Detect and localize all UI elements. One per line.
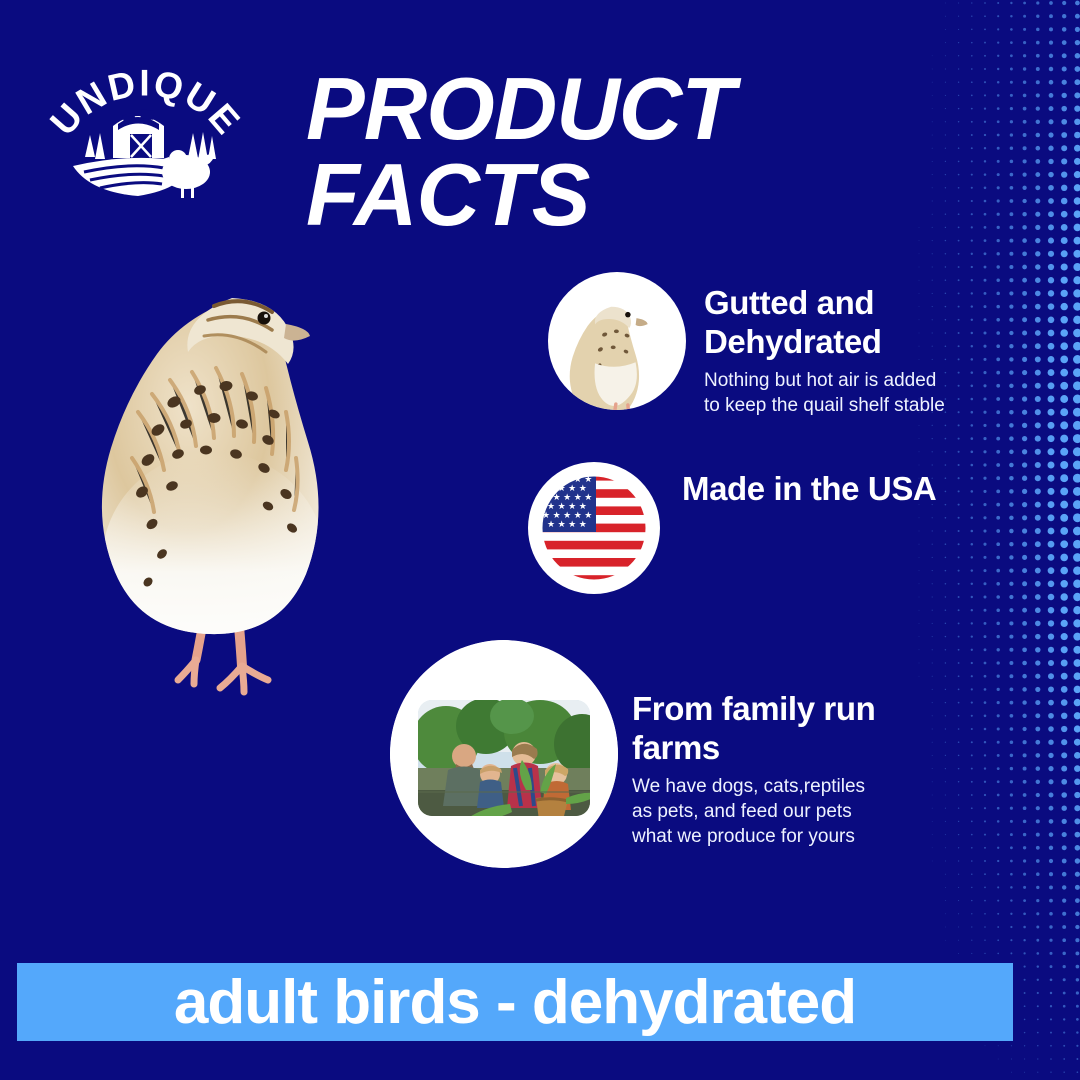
quail-photo-icon [548, 272, 686, 410]
feature-heading: Gutted and Dehydrated [704, 284, 964, 362]
brand-logo: UNDIQUE [38, 62, 253, 212]
farm-emblem-icon [73, 109, 216, 198]
family-farm-photo-icon [390, 640, 618, 868]
feature-subtext: We have dogs, cats,reptiles as pets, and… [632, 774, 877, 850]
title-line-2: FACTS [306, 152, 866, 238]
banner-label: adult birds - dehydrated [174, 967, 856, 1038]
feature-subtext: Nothing but hot air is added to keep the… [704, 368, 949, 419]
title-line-1: PRODUCT [306, 59, 734, 158]
product-variant-banner: adult birds - dehydrated [17, 963, 1013, 1041]
hero-quail-image [96, 262, 366, 712]
page-title: PRODUCT FACTS [306, 66, 866, 238]
quail-body [102, 300, 326, 672]
feature-heading: Made in the USA [682, 470, 936, 509]
usa-flag-circle-icon: ★ ★ ★ ★ ★ ★ ★ ★ ★ ★ ★ ★ ★ ★ ★ ★ ★ ★ ★ ★ … [524, 458, 664, 598]
feature-item-made-in-usa: ★ ★ ★ ★ ★ ★ ★ ★ ★ ★ ★ ★ ★ ★ ★ ★ ★ ★ ★ ★ … [524, 458, 936, 598]
product-facts-infographic: UNDIQUE [0, 0, 1080, 1080]
feature-item-family-run-farms: From family run farms We have dogs, cats… [390, 640, 892, 868]
feature-heading: From family run farms [632, 690, 892, 768]
feature-item-gutted-dehydrated: Gutted and Dehydrated Nothing but hot ai… [548, 272, 964, 418]
svg-text:★ ★ ★ ★: ★ ★ ★ ★ [547, 519, 587, 529]
